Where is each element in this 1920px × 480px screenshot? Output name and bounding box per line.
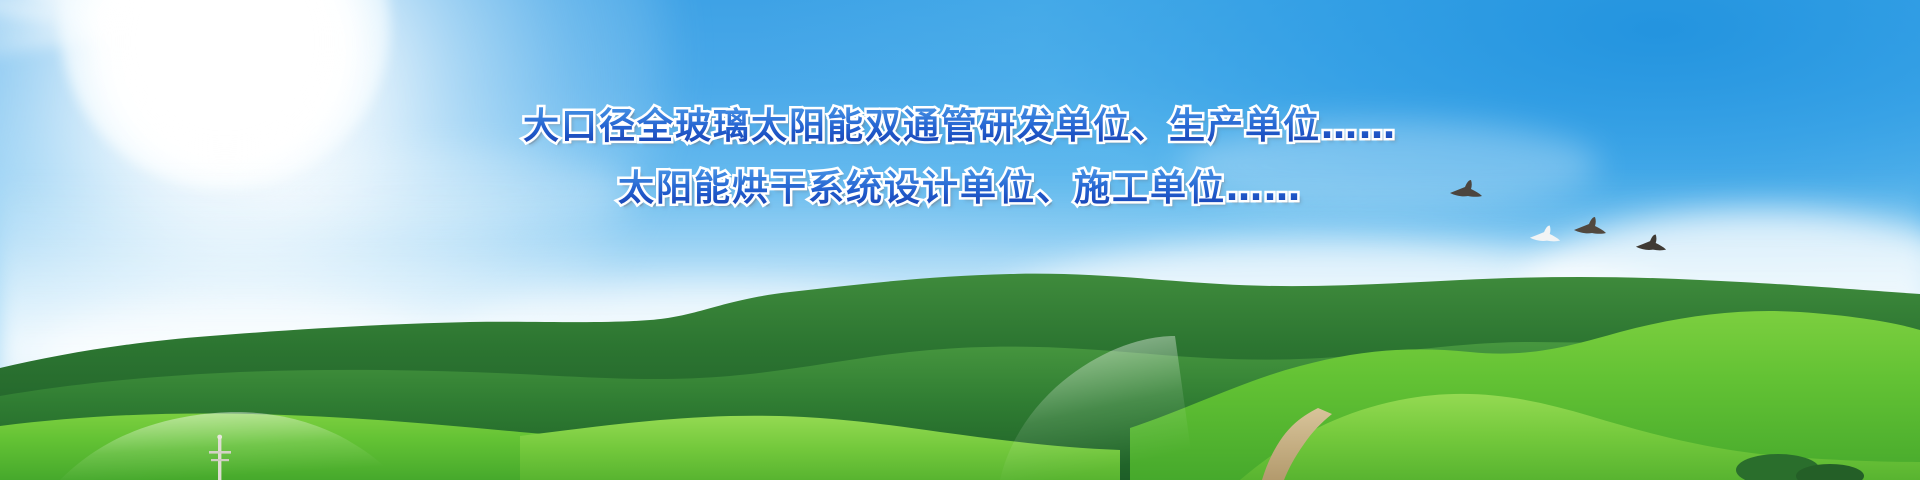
utility-pole-svg — [207, 434, 233, 480]
bird-2-icon — [1528, 222, 1562, 246]
headline-line-1-row: 大口径全玻璃太阳能双通管研发单位、生产单位…… 大口径全玻璃太阳能双通管研发单位… — [0, 96, 1920, 158]
headline-line-2-row: 太阳能烘干系统设计单位、施工单位…… 太阳能烘干系统设计单位、施工单位…… — [0, 158, 1920, 220]
utility-pole — [207, 434, 233, 480]
hero-banner: 大口径全玻璃太阳能双通管研发单位、生产单位…… 大口径全玻璃太阳能双通管研发单位… — [0, 0, 1920, 480]
headline-line-2: 太阳能烘干系统设计单位、施工单位…… — [618, 158, 1302, 220]
hills-svg — [0, 250, 1920, 480]
headline-block: 大口径全玻璃太阳能双通管研发单位、生产单位…… 大口径全玻璃太阳能双通管研发单位… — [0, 96, 1920, 220]
headline-line-1: 大口径全玻璃太阳能双通管研发单位、生产单位…… — [523, 96, 1397, 158]
hills-landscape — [0, 250, 1920, 480]
